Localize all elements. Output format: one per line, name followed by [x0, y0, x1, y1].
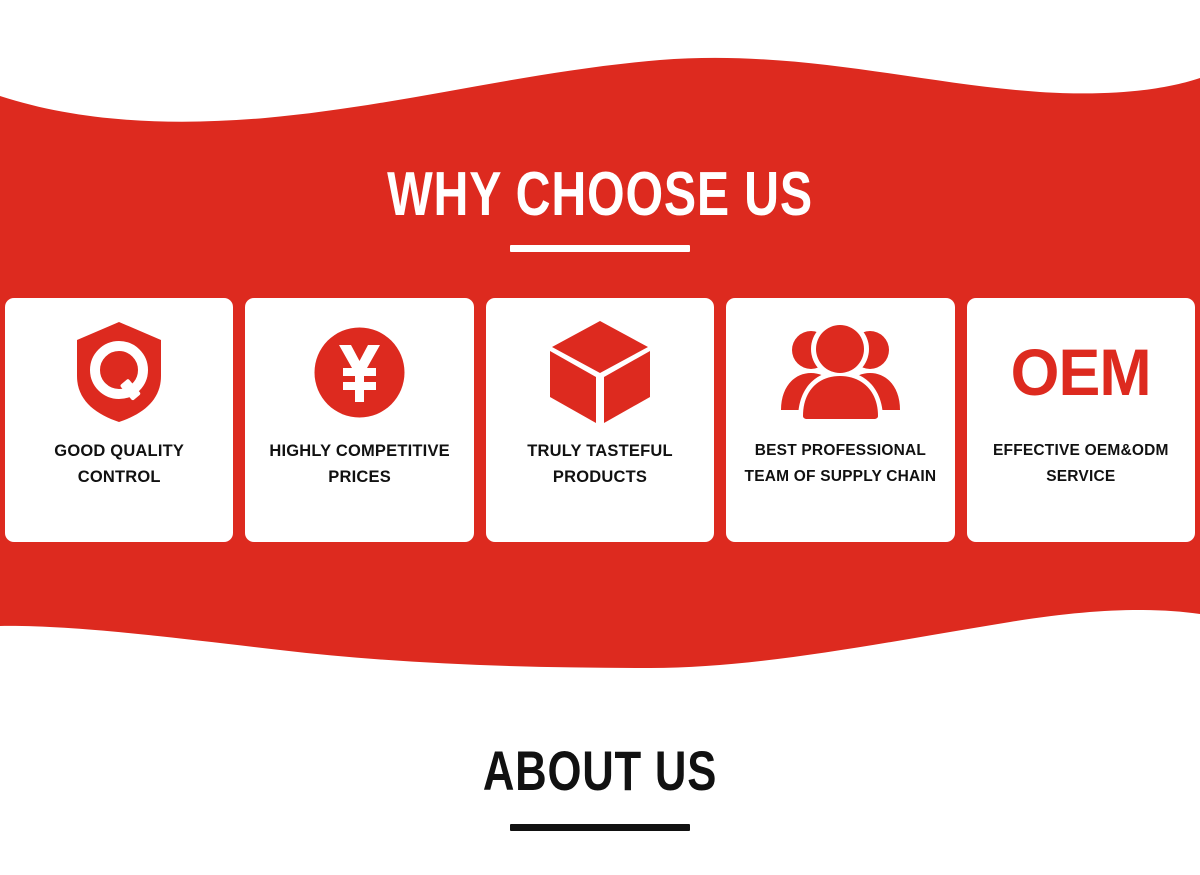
feature-card-team[interactable]: BEST PROFESSIONAL TEAM OF SUPPLY CHAIN [726, 298, 954, 542]
feature-label-line1: EFFECTIVE OEM&ODM [993, 442, 1169, 459]
feature-card-quality[interactable]: GOOD QUALITY CONTROL [5, 298, 233, 542]
about-us-section: ABOUT US [0, 742, 1200, 800]
about-us-underline [510, 824, 690, 831]
oem-label: OEM [1011, 339, 1151, 405]
feature-card-products[interactable]: TRULY TASTEFUL PRODUCTS [486, 298, 714, 542]
feature-label-line2: PRODUCTS [553, 468, 647, 486]
feature-card-prices[interactable]: HIGHLY COMPETITIVE PRICES [245, 298, 473, 542]
feature-label-line2: TEAM OF SUPPLY CHAIN [745, 468, 937, 485]
cube-box-icon [535, 312, 665, 432]
oem-text-icon: OEM [1016, 312, 1146, 432]
feature-card-label: TRULY TASTEFUL PRODUCTS [521, 438, 679, 490]
feature-card-label: BEST PROFESSIONAL TEAM OF SUPPLY CHAIN [739, 438, 943, 490]
feature-label-line2: PRICES [328, 468, 391, 486]
feature-card-label: HIGHLY COMPETITIVE PRICES [263, 438, 456, 490]
title-underline [510, 245, 690, 252]
about-us-title: ABOUT US [132, 742, 1068, 800]
shield-quality-icon [54, 312, 184, 432]
page-root: WHY CHOOSE US GOOD QUALITY CONTROL [0, 0, 1200, 875]
feature-card-label: EFFECTIVE OEM&ODM SERVICE [987, 438, 1175, 490]
feature-label-line1: GOOD QUALITY [54, 442, 184, 460]
feature-label-line1: TRULY TASTEFUL [527, 442, 673, 460]
feature-cards-row: GOOD QUALITY CONTROL HIGHLY COMPETITIVE … [5, 298, 1195, 542]
yen-coin-icon [295, 312, 425, 432]
feature-label-line1: BEST PROFESSIONAL [755, 442, 926, 459]
feature-label-line1: HIGHLY COMPETITIVE [269, 442, 450, 460]
feature-label-line2: CONTROL [78, 468, 161, 486]
feature-label-line2: SERVICE [1046, 468, 1115, 485]
feature-card-label: GOOD QUALITY CONTROL [48, 438, 190, 490]
feature-card-oem[interactable]: OEM EFFECTIVE OEM&ODM SERVICE [967, 298, 1195, 542]
page-title: WHY CHOOSE US [132, 163, 1068, 227]
people-group-icon [775, 312, 905, 432]
